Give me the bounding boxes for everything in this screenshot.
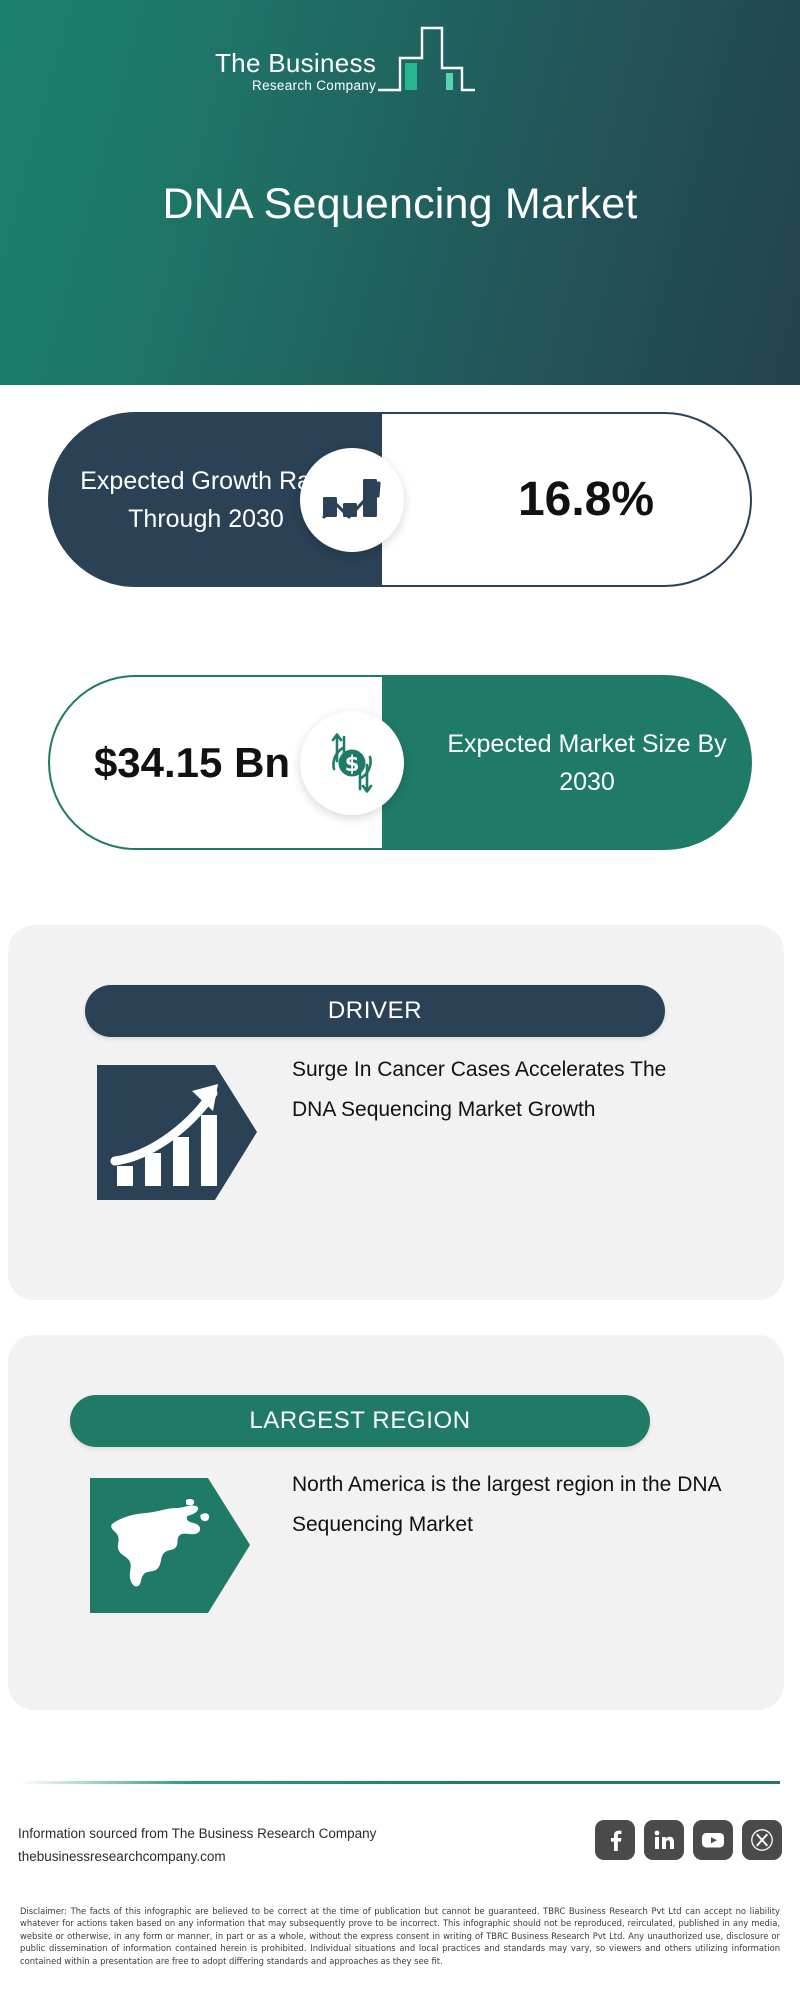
driver-badge: DRIVER — [85, 985, 665, 1037]
growth-rate-value-panel: 16.8% — [382, 412, 752, 587]
footer-source: Information sourced from The Business Re… — [18, 1822, 376, 1868]
growth-rate-value: 16.8% — [478, 472, 654, 527]
social-links — [595, 1820, 782, 1860]
x-twitter-icon[interactable] — [742, 1820, 782, 1860]
market-size-label: Expected Market Size By 2030 — [382, 675, 752, 850]
youtube-icon[interactable] — [693, 1820, 733, 1860]
svg-text:$: $ — [345, 752, 360, 776]
linkedin-icon[interactable] — [644, 1820, 684, 1860]
logo-line-1: The Business — [215, 49, 376, 78]
logo-line-2: Research Company — [252, 78, 376, 94]
driver-text: Surge In Cancer Cases Accelerates The DN… — [292, 1050, 712, 1130]
footer-divider — [20, 1781, 780, 1784]
largest-region-text: North America is the largest region in t… — [292, 1465, 732, 1545]
page-title: DNA Sequencing Market — [0, 180, 800, 229]
company-logo: The Business Research Company — [215, 22, 475, 98]
facebook-icon[interactable] — [595, 1820, 635, 1860]
bar-chart-growth-icon — [300, 448, 404, 552]
north-america-map-icon — [90, 1478, 250, 1613]
disclaimer-text: Disclaimer: The facts of this infographi… — [20, 1905, 780, 1967]
growth-arrow-chart-icon — [97, 1065, 257, 1200]
largest-region-badge: LARGEST REGION — [70, 1395, 650, 1447]
footer-source-line-1: Information sourced from The Business Re… — [18, 1822, 376, 1845]
logo-wordmark: The Business Research Company — [215, 49, 376, 98]
footer-website-link[interactable]: thebusinessresearchcompany.com — [18, 1845, 376, 1868]
logo-bar-chart-icon — [378, 22, 475, 98]
header-banner: The Business Research Company DNA Sequen… — [0, 0, 800, 385]
dollar-cycle-icon: $ — [300, 711, 404, 815]
